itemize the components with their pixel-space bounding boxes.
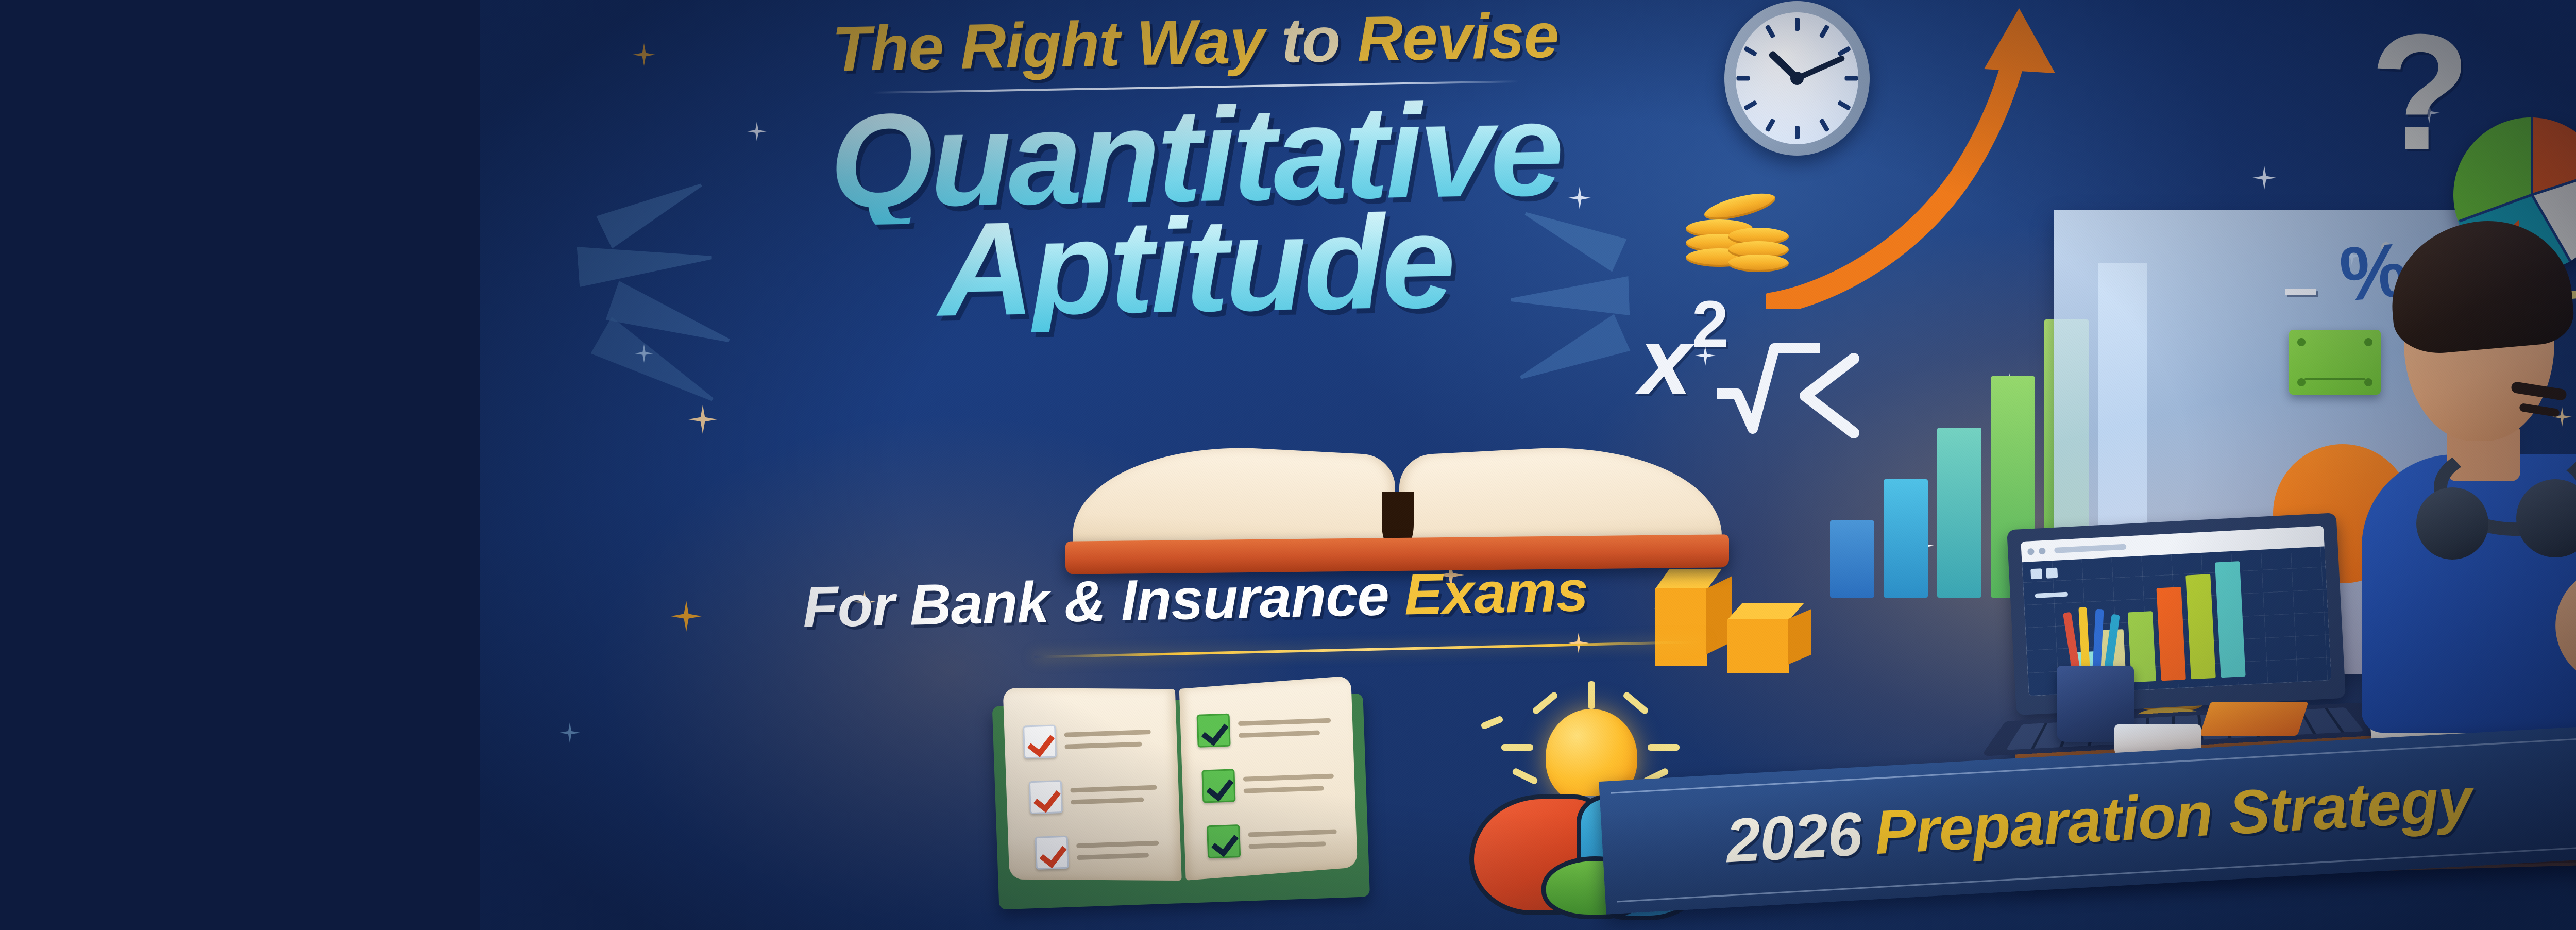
- student-eye: [2519, 403, 2560, 417]
- banner-stage: ? x 2 7 –: [0, 0, 2576, 930]
- checklist-row: [1023, 721, 1151, 759]
- bottom-ribbon: 2026 Preparation Strategy: [1599, 726, 2576, 914]
- title-line-2: Aptitude: [679, 192, 1711, 338]
- bar: [1830, 520, 1874, 598]
- growth-arrow-icon: [1766, 5, 2085, 309]
- sparkle: [635, 344, 653, 363]
- bulb-ray: [1480, 715, 1504, 730]
- ribbon-year: 2026: [1724, 798, 1863, 876]
- kicker-tail: Revise: [1357, 0, 1559, 74]
- ribbon-phrase: Preparation Strategy: [1873, 764, 2473, 869]
- eraser-pad: [2199, 702, 2308, 736]
- letterbox-left: [0, 0, 480, 930]
- chevron-icon: [1787, 351, 1869, 440]
- checklist-book: [992, 679, 1370, 914]
- laptop-chart-bar: [2156, 587, 2185, 681]
- kicker-lead: The Right Way: [832, 6, 1265, 84]
- bulb-ray: [1512, 767, 1538, 785]
- subtitle-line: For Bank & Insurance Exams: [680, 555, 1711, 643]
- checklist-row: [1196, 710, 1331, 748]
- student-figure: [2312, 222, 2576, 726]
- cube-shape: [1727, 603, 1820, 675]
- checkbox-checked-red: [1029, 780, 1063, 814]
- sparkle: [633, 43, 655, 66]
- bulb-ray: [1532, 691, 1559, 715]
- student-hair: [2385, 214, 2576, 357]
- bulb-ray: [1501, 744, 1533, 751]
- checkbox-checked-red: [1035, 836, 1069, 870]
- sparkle: [688, 405, 717, 434]
- student-eyebrow: [2511, 381, 2567, 401]
- checklist-row: [1029, 777, 1158, 815]
- checklist-row: [1207, 821, 1337, 858]
- checkbox-checked-green: [1196, 714, 1230, 748]
- illustration-canvas: ? x 2 7 –: [480, 0, 2576, 930]
- bulb-ray: [1588, 681, 1595, 709]
- ribbon-text: 2026 Preparation Strategy: [1599, 726, 2576, 914]
- sparkle: [560, 722, 580, 743]
- subtitle-white-part: For Bank & Insurance: [802, 563, 1389, 639]
- checklist-row: [1035, 833, 1160, 870]
- checkbox-checked-green: [1207, 824, 1241, 858]
- checkbox-checked-green: [1201, 769, 1235, 803]
- sparkle: [2252, 166, 2276, 190]
- bar: [1937, 428, 1981, 598]
- bulb-ray: [1622, 691, 1650, 715]
- subtitle-gold-part: Exams: [1403, 559, 1588, 627]
- kicker-connector: to: [1281, 5, 1341, 76]
- headline-block: The Right Way to Revise Quantitative Apt…: [680, 0, 1710, 329]
- headphone-earcup: [2416, 487, 2488, 560]
- checklist-row: [1201, 766, 1334, 803]
- bulb-ray: [1648, 744, 1680, 751]
- subtitle-gold-rule: [1034, 640, 1704, 658]
- question-mark-icon: ?: [2370, 0, 2470, 187]
- checkbox-checked-red: [1023, 724, 1057, 758]
- bar: [1884, 479, 1928, 598]
